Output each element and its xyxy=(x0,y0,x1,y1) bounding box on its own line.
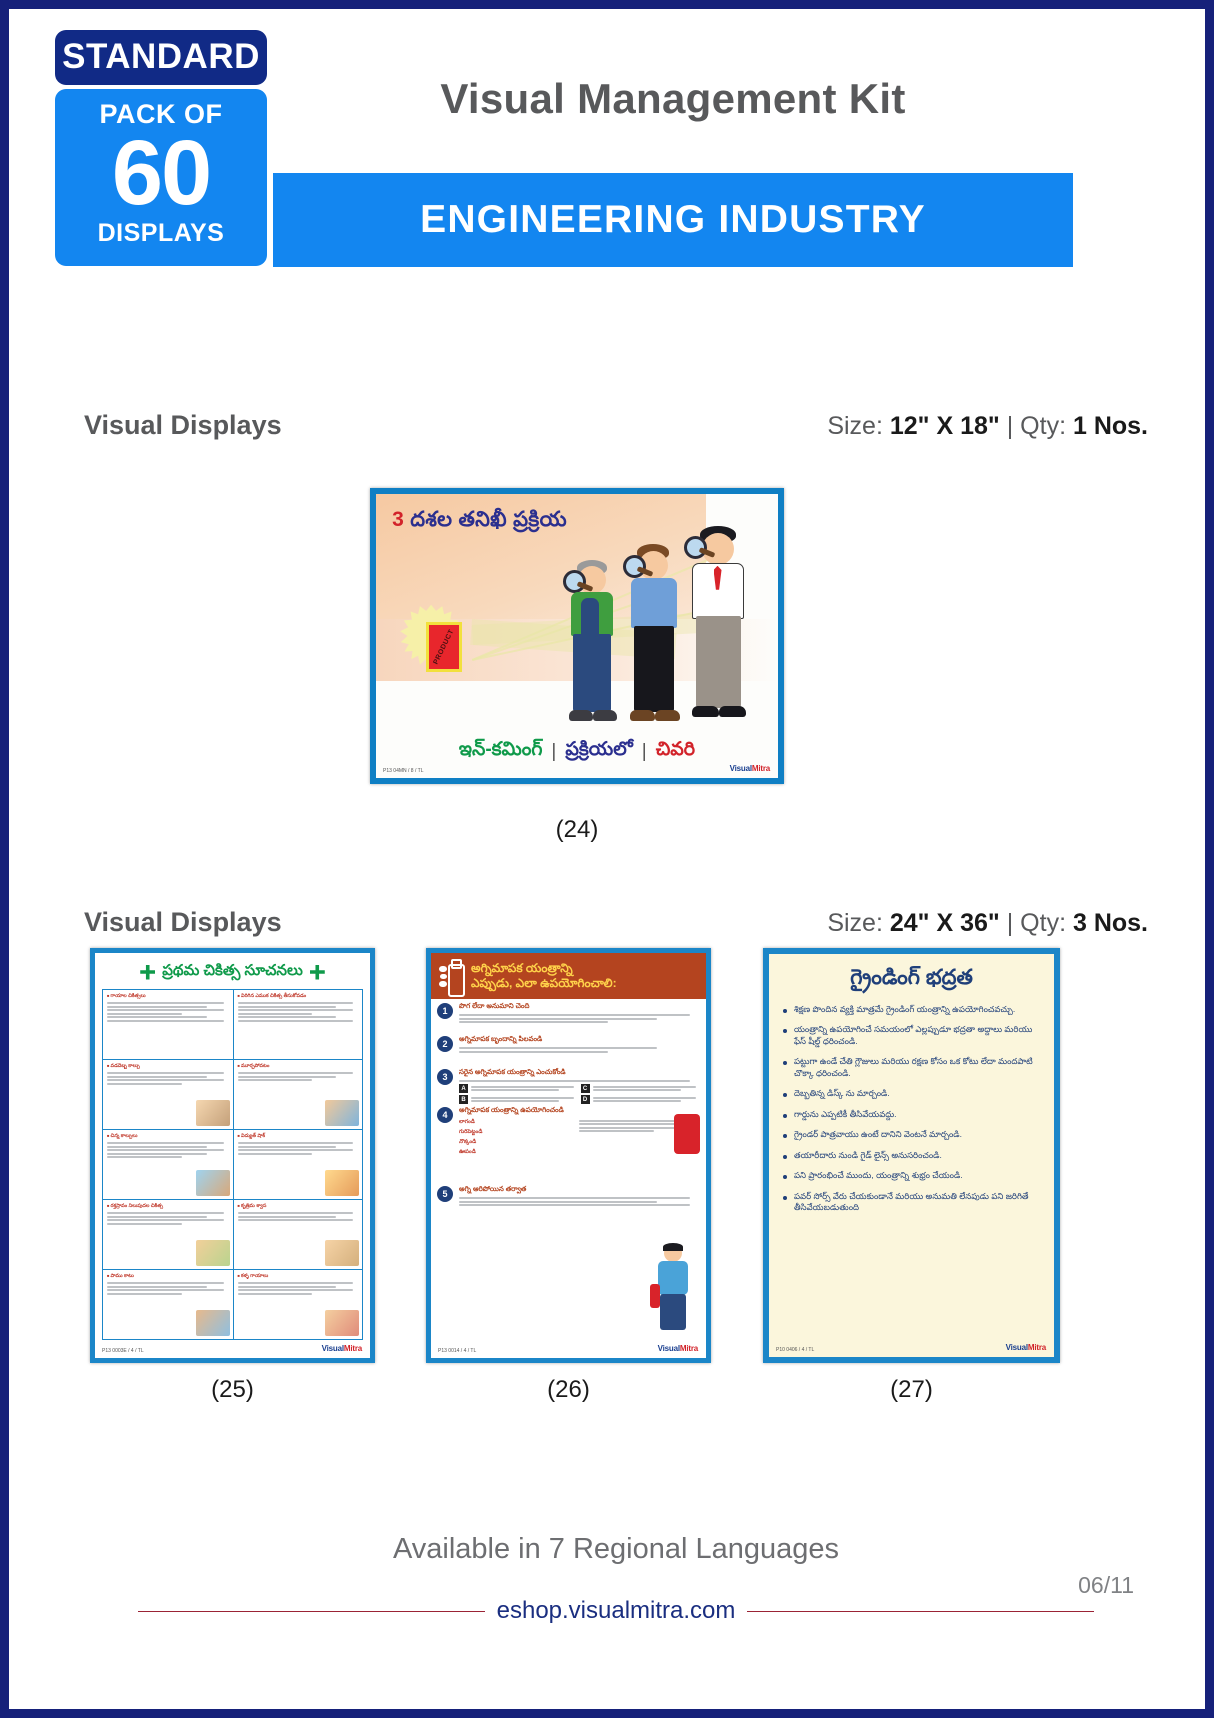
poster-27[interactable]: గ్రైండింగ్ భద్రత శిక్షణ పొందిన వ్యక్తి మ… xyxy=(763,948,1060,1363)
step-item: 3 సరైన అగ్నిమాపక యంత్రాన్ని ఎంచుకోండి A … xyxy=(437,1069,700,1104)
size-prefix-2: Size: xyxy=(827,909,883,937)
cell-heading: చిన్న కాల్పులు xyxy=(107,1133,229,1140)
first-aid-cell: గాయాల చికిత్సలు xyxy=(103,990,233,1060)
operator-hair xyxy=(663,1243,683,1251)
page-number: 06/11 xyxy=(1078,1572,1134,1599)
overall-bib-1 xyxy=(581,598,599,638)
cell-illustration xyxy=(325,1170,359,1196)
step-number: 2 xyxy=(437,1036,453,1052)
poster-26[interactable]: అగ్నిమాపక యంత్రాన్ని ఎప్పుడు, ఎలా ఉపయోగి… xyxy=(426,948,711,1363)
shoe-3b xyxy=(719,706,746,717)
step-number: 3 xyxy=(437,1069,453,1085)
shoe-1b xyxy=(593,710,617,721)
poster-26-caption: (26) xyxy=(426,1376,711,1404)
section-1-label: Visual Displays xyxy=(84,410,282,441)
cell-heading: రక్తస్రావం నిలుపుదల చికిత్స xyxy=(107,1203,229,1210)
first-aid-cell: విద్యుత్ షాక్ xyxy=(234,1130,363,1200)
magnifier-2 xyxy=(623,555,646,578)
shoe-2a xyxy=(630,710,655,721)
operator-extinguisher xyxy=(650,1284,660,1308)
poster-25-border: ప్రథమ చికిత్స సూచనలు గాయాల చికిత్సలు వడద… xyxy=(90,948,375,1363)
fire-extinguisher-icon xyxy=(439,958,465,994)
list-item: పవర్ సోర్స్ వేరు చేయకుండానే మరియు అనుమతి… xyxy=(783,1191,1044,1214)
poster-24-caption: (24) xyxy=(370,816,784,844)
first-aid-cell: విరిగిన ఎముక చికిత్స తీసుకోవడం xyxy=(234,990,363,1060)
poster-26-title-line2: ఎప్పుడు, ఎలా ఉపయోగించాలి: xyxy=(471,976,617,991)
logo-text-26: Visual xyxy=(658,1344,680,1353)
cell-illustration xyxy=(325,1310,359,1336)
fire-class-key: B xyxy=(459,1095,468,1104)
poster-27-title: గ్రైండింగ్ భద్రత xyxy=(769,966,1054,995)
poster-27-code: P10 0406 / 4 / TL xyxy=(776,1347,814,1353)
visualmitra-logo-24: VisualMitra xyxy=(730,764,770,773)
worker-figure-1 xyxy=(561,558,625,730)
step-number: 5 xyxy=(437,1186,453,1202)
pass-key: ఊపండి xyxy=(459,1148,476,1156)
fire-class-grid: A C B D xyxy=(459,1084,700,1104)
cell-illustration xyxy=(196,1100,230,1126)
stage-incoming: ఇన్-కమింగ్ xyxy=(459,739,543,765)
step-title: అగ్నిమాపక యంత్రాన్ని ఉపయోగించండి xyxy=(459,1107,700,1116)
fire-class-item: C xyxy=(581,1084,701,1093)
grinding-safety-list: శిక్షణ పొందిన వ్యక్తి మాత్రమే గ్రైండింగ్… xyxy=(783,1004,1044,1223)
meta-separator-1: | xyxy=(1007,412,1014,440)
logo-text-27: Visual xyxy=(1006,1343,1028,1352)
legs-1 xyxy=(573,634,611,712)
fire-class-key: D xyxy=(581,1095,590,1104)
operator-legs xyxy=(660,1294,686,1330)
pack-badge: STANDARD PACK OF 60 DISPLAYS xyxy=(55,30,267,266)
standard-label: STANDARD xyxy=(55,30,267,85)
logo-text-25: Visual xyxy=(322,1344,344,1353)
industry-banner: ENGINEERING INDUSTRY xyxy=(273,173,1073,267)
cell-illustration xyxy=(196,1310,230,1336)
extinguisher-body xyxy=(448,964,465,997)
first-aid-cell: కళ్ళ గాయాలు xyxy=(234,1270,363,1339)
industry-label: ENGINEERING INDUSTRY xyxy=(420,198,926,242)
cell-illustration xyxy=(325,1240,359,1266)
logo-accent-26: Mitra xyxy=(680,1344,698,1353)
step-item: 4 అగ్నిమాపక యంత్రాన్ని ఉపయోగించండి లాగండ… xyxy=(437,1107,700,1183)
section-header-1: Visual Displays Size: 12" X 18" | Qty: 1… xyxy=(18,410,1214,450)
shoe-1a xyxy=(569,710,593,721)
fire-class-item: D xyxy=(581,1095,701,1104)
poster-26-header: అగ్నిమాపక యంత్రాన్ని ఎప్పుడు, ఎలా ఉపయోగి… xyxy=(431,953,706,999)
list-item: గ్రైండర్ పాత్రవాయు ఉంటే దానిని వెంటనే మా… xyxy=(783,1129,1044,1140)
footer-rule-right xyxy=(747,1611,1094,1612)
logo-text-24: Visual xyxy=(730,764,752,773)
shoe-3a xyxy=(692,706,719,717)
step-number: 4 xyxy=(437,1107,453,1123)
cell-illustration xyxy=(196,1170,230,1196)
magnifier-1 xyxy=(563,570,586,593)
extinguisher-illustration xyxy=(674,1114,700,1154)
poster-24-title-text: దశల తనిఖీ ప్రక్రియ xyxy=(410,508,567,531)
cell-heading: విద్యుత్ షాక్ xyxy=(238,1133,359,1140)
logo-accent-24: Mitra xyxy=(752,764,770,773)
first-aid-cell: కృత్రిమ శ్వాస xyxy=(234,1200,363,1270)
cell-heading: కళ్ళ గాయాలు xyxy=(238,1273,359,1280)
qty-prefix-2: Qty: xyxy=(1020,909,1066,937)
stage-sep-2: | xyxy=(642,741,647,763)
step-item: 2 అగ్నిమాపక బృందాన్ని పిలవండి xyxy=(437,1036,700,1066)
first-aid-column-left: గాయాల చికిత్సలు వడదెబ్బ కాల్పు చిన్న కాల… xyxy=(103,990,233,1339)
visualmitra-logo-27: VisualMitra xyxy=(1006,1343,1046,1352)
poster-27-artwork: గ్రైండింగ్ భద్రత శిక్షణ పొందిన వ్యక్తి మ… xyxy=(769,954,1054,1357)
medical-cross-icon-left xyxy=(140,965,155,980)
size-value-1: 12" X 18" xyxy=(890,412,1000,440)
pack-of-badge: PACK OF 60 DISPLAYS xyxy=(55,89,267,266)
fire-class-key: A xyxy=(459,1084,468,1093)
first-aid-cell: వడదెబ్బ కాల్పు xyxy=(103,1060,233,1130)
qty-prefix-1: Qty: xyxy=(1020,412,1066,440)
section-2-label: Visual Displays xyxy=(84,907,282,938)
shoe-2b xyxy=(655,710,680,721)
poster-27-border: గ్రైండింగ్ భద్రత శిక్షణ పొందిన వ్యక్తి మ… xyxy=(763,948,1060,1363)
first-aid-column-right: విరిగిన ఎముక చికిత్స తీసుకోవడం మూర్ఛపోవట… xyxy=(233,990,363,1339)
logo-accent-25: Mitra xyxy=(344,1344,362,1353)
poster-26-title: అగ్నిమాపక యంత్రాన్ని ఎప్పుడు, ఎలా ఉపయోగి… xyxy=(471,961,617,991)
section-header-2: Visual Displays Size: 24" X 36" | Qty: 3… xyxy=(18,907,1214,947)
list-item: గార్డును ఎప్పటికీ తీసివేయవద్దు. xyxy=(783,1109,1044,1120)
first-aid-grid: గాయాల చికిత్సలు వడదెబ్బ కాల్పు చిన్న కాల… xyxy=(102,989,363,1340)
shirt-2 xyxy=(631,578,677,628)
cell-heading: పాము కాటు xyxy=(107,1273,229,1280)
first-aid-cell: రక్తస్రావం నిలుపుదల చికిత్స xyxy=(103,1200,233,1270)
list-item: పని ప్రారంభించే ముందు, యంత్రాన్ని శుభ్రం… xyxy=(783,1170,1044,1181)
poster-27-caption: (27) xyxy=(763,1376,1060,1404)
poster-25-title-row: ప్రథమ చికిత్స సూచనలు xyxy=(95,960,370,984)
cell-illustration xyxy=(325,1100,359,1126)
qty-value-2: 3 Nos. xyxy=(1073,909,1148,937)
medical-cross-icon-right xyxy=(310,965,325,980)
visualmitra-logo-26: VisualMitra xyxy=(658,1344,698,1353)
size-value-2: 24" X 36" xyxy=(890,909,1000,937)
worker-figure-2 xyxy=(621,544,687,730)
operator-illustration xyxy=(648,1244,700,1340)
list-item: పట్టుగా ఉండే చేతి గ్లౌజులు మరియు రక్షణ క… xyxy=(783,1056,1044,1079)
poster-24-border: 3 దశల తనిఖీ ప్రక్రియ PRODUCT xyxy=(370,488,784,784)
page-frame: STANDARD PACK OF 60 DISPLAYS Visual Mana… xyxy=(0,0,1214,1718)
available-languages-note: Available in 7 Regional Languages xyxy=(18,1533,1214,1566)
fire-class-item: A xyxy=(459,1084,579,1093)
product-box: PRODUCT xyxy=(426,622,462,672)
cell-heading: వడదెబ్బ కాల్పు xyxy=(107,1063,229,1070)
poster-25-artwork: ప్రథమ చికిత్స సూచనలు గాయాల చికిత్సలు వడద… xyxy=(95,953,370,1358)
poster-24[interactable]: 3 దశల తనిఖీ ప్రక్రియ PRODUCT xyxy=(370,488,784,784)
cell-heading: విరిగిన ఎముక చికిత్స తీసుకోవడం xyxy=(238,993,359,1000)
worker-figure-3 xyxy=(682,526,756,730)
step-title: అగ్నిమాపక బృందాన్ని పిలవండి xyxy=(459,1036,700,1045)
cell-illustration xyxy=(196,1240,230,1266)
poster-26-artwork: అగ్నిమాపక యంత్రాన్ని ఎప్పుడు, ఎలా ఉపయోగి… xyxy=(431,953,706,1358)
poster-24-artwork: 3 దశల తనిఖీ ప్రక్రియ PRODUCT xyxy=(376,494,778,778)
step-title: అగ్ని ఆరిపోయిన తర్వాత xyxy=(459,1186,700,1195)
page-sheet: STANDARD PACK OF 60 DISPLAYS Visual Mana… xyxy=(18,18,1196,1700)
step-item: 1 పొగ లేదా అనుమాని చెంది xyxy=(437,1003,700,1033)
pass-key: నొక్కండి xyxy=(459,1138,476,1146)
legs-3 xyxy=(696,616,741,708)
step-number: 1 xyxy=(437,1003,453,1019)
first-aid-cell: చిన్న కాల్పులు xyxy=(103,1130,233,1200)
poster-26-title-line1: అగ్నిమాపక యంత్రాన్ని xyxy=(471,961,617,976)
visualmitra-logo-25: VisualMitra xyxy=(322,1344,362,1353)
step-title: సరైన అగ్నిమాపక యంత్రాన్ని ఎంచుకోండి xyxy=(459,1069,700,1078)
list-item: యంత్రాన్ని ఉపయోగించే సమయంలో ఎల్లప్పుడూ భ… xyxy=(783,1024,1044,1047)
stage-final: చివరి xyxy=(656,739,695,765)
displays-label: DISPLAYS xyxy=(55,217,267,250)
pass-key: గురిపెట్టండి xyxy=(459,1128,482,1136)
list-item: తయారీదారు నుండి గైడ్ లైన్స్ అనుసరించండి. xyxy=(783,1150,1044,1161)
poster-25-code: P13 0003E / 4 / TL xyxy=(102,1348,144,1354)
poster-26-code: P13 0014 / 4 / TL xyxy=(438,1348,476,1354)
poster-25-title: ప్రథమ చికిత్స సూచనలు xyxy=(162,962,303,983)
pack-count: 60 xyxy=(55,130,267,217)
shop-url[interactable]: eshop.visualmitra.com xyxy=(497,1597,736,1625)
cell-heading: మూర్ఛపోవటం xyxy=(238,1063,359,1070)
qty-value-1: 1 Nos. xyxy=(1073,412,1148,440)
fire-class-item: B xyxy=(459,1095,579,1104)
logo-accent-27: Mitra xyxy=(1028,1343,1046,1352)
stage-sep-1: | xyxy=(551,741,556,763)
step-title: పొగ లేదా అనుమాని చెంది xyxy=(459,1003,700,1012)
poster-24-stage-row: ఇన్-కమింగ్ | ప్రక్రియలో | చివరి xyxy=(376,739,778,765)
first-aid-cell: పాము కాటు xyxy=(103,1270,233,1339)
legs-2 xyxy=(634,626,674,712)
page-title: Visual Management Kit xyxy=(273,75,1073,123)
section-2-meta: Size: 24" X 36" | Qty: 3 Nos. xyxy=(827,909,1148,938)
meta-separator-2: | xyxy=(1007,909,1014,937)
cell-heading: కృత్రిమ శ్వాస xyxy=(238,1203,359,1210)
first-aid-cell: మూర్ఛపోవటం xyxy=(234,1060,363,1130)
poster-26-border: అగ్నిమాపక యంత్రాన్ని ఎప్పుడు, ఎలా ఉపయోగి… xyxy=(426,948,711,1363)
fire-class-key: C xyxy=(581,1084,590,1093)
cell-heading: గాయాల చికిత్సలు xyxy=(107,993,229,1000)
poster-24-title: 3 దశల తనిఖీ ప్రక్రియ xyxy=(392,508,689,537)
poster-24-code: P13 04MN / 8 / TL xyxy=(383,768,423,774)
flame-icon xyxy=(439,964,448,990)
product-label: PRODUCT xyxy=(433,628,456,665)
list-item: దెబ్బతిన్న డిస్క్ ను మార్చండి. xyxy=(783,1088,1044,1099)
section-1-meta: Size: 12" X 18" | Qty: 1 Nos. xyxy=(827,412,1148,441)
step-item: 5 అగ్ని ఆరిపోయిన తర్వాత xyxy=(437,1186,700,1216)
footer-rule-left xyxy=(138,1611,485,1612)
list-item: శిక్షణ పొందిన వ్యక్తి మాత్రమే గ్రైండింగ్… xyxy=(783,1004,1044,1015)
poster-24-title-number: 3 xyxy=(392,508,404,531)
footer-url-row: eshop.visualmitra.com xyxy=(138,1598,1094,1624)
size-prefix-1: Size: xyxy=(827,412,883,440)
stage-inprocess: ప్రక్రియలో xyxy=(565,739,632,765)
operator-shirt xyxy=(658,1261,688,1295)
poster-25[interactable]: ప్రథమ చికిత్స సూచనలు గాయాల చికిత్సలు వడద… xyxy=(90,948,375,1363)
pass-key: లాగండి xyxy=(459,1118,475,1126)
poster-25-caption: (25) xyxy=(90,1376,375,1404)
